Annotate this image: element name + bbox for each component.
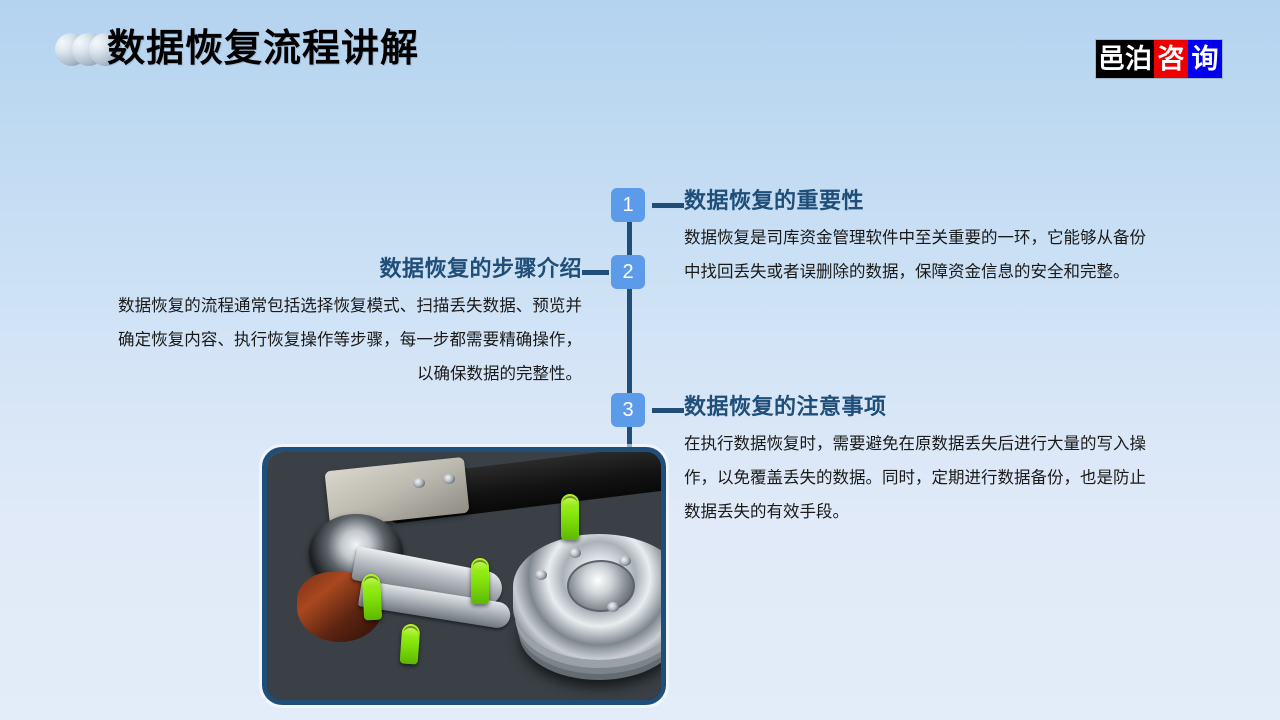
timeline-content-2: 数据恢复的步骤介绍 数据恢复的流程通常包括选择恢复模式、扫描丢失数据、预览并确定… bbox=[118, 253, 582, 391]
timeline-body-2: 数据恢复的流程通常包括选择恢复模式、扫描丢失数据、预览并确定恢复内容、执行恢复操… bbox=[118, 289, 582, 391]
timeline-badge-1[interactable]: 1 bbox=[611, 188, 645, 222]
page-title: 数据恢复流程讲解 bbox=[107, 23, 419, 75]
timeline-badge-2[interactable]: 2 bbox=[611, 255, 645, 289]
miniature-worker-figure-1 bbox=[362, 574, 382, 621]
miniature-worker-figure-3 bbox=[471, 558, 489, 604]
drive-screw-3 bbox=[569, 548, 581, 558]
drive-screw-5 bbox=[535, 570, 547, 580]
drive-spindle-hub bbox=[567, 560, 635, 612]
timeline-heading-2: 数据恢复的步骤介绍 bbox=[118, 253, 582, 285]
brand-logo: 邑泊 咨 询 bbox=[1096, 40, 1222, 78]
drive-screw-6 bbox=[607, 602, 619, 612]
timeline-heading-1: 数据恢复的重要性 bbox=[684, 186, 1146, 216]
drive-screw-4 bbox=[619, 556, 631, 566]
logo-text-blue: 询 bbox=[1188, 40, 1222, 78]
timeline-heading-3: 数据恢复的注意事项 bbox=[684, 392, 1146, 422]
logo-text-red: 咨 bbox=[1154, 40, 1188, 78]
drive-screw-1 bbox=[413, 478, 425, 488]
timeline-badge-3[interactable]: 3 bbox=[611, 393, 645, 427]
timeline-body-1: 数据恢复是司库资金管理软件中至关重要的一环，它能够从备份中找回丢失或者误删除的数… bbox=[684, 221, 1146, 289]
timeline-connector-3 bbox=[652, 408, 684, 413]
timeline-content-3: 数据恢复的注意事项 在执行数据恢复时，需要避免在原数据丢失后进行大量的写入操作，… bbox=[684, 392, 1146, 529]
timeline-content-1: 数据恢复的重要性 数据恢复是司库资金管理软件中至关重要的一环，它能够从备份中找回… bbox=[684, 186, 1146, 289]
miniature-worker-figure-2 bbox=[400, 623, 421, 664]
timeline-body-3: 在执行数据恢复时，需要避免在原数据丢失后进行大量的写入操作，以免覆盖丢失的数据。… bbox=[684, 427, 1146, 529]
timeline-connector-2 bbox=[582, 270, 609, 275]
slide-header: 数据恢复流程讲解 邑泊 咨 询 bbox=[0, 0, 1280, 110]
hard-disk-drive-photo bbox=[267, 452, 661, 700]
hard-disk-photo-frame: 硬盘内部与微缩绿色防护服工人 bbox=[262, 447, 666, 705]
slide-root: 数据恢复流程讲解 邑泊 咨 询 1 数据恢复的重要性 数据恢复是司库资金管理软件… bbox=[0, 0, 1280, 720]
drive-screw-2 bbox=[443, 474, 455, 484]
logo-text-black: 邑泊 bbox=[1096, 40, 1154, 78]
timeline-connector-1 bbox=[652, 203, 684, 208]
timeline-spine-segment-2 bbox=[627, 288, 632, 396]
miniature-worker-figure-4 bbox=[561, 494, 579, 540]
